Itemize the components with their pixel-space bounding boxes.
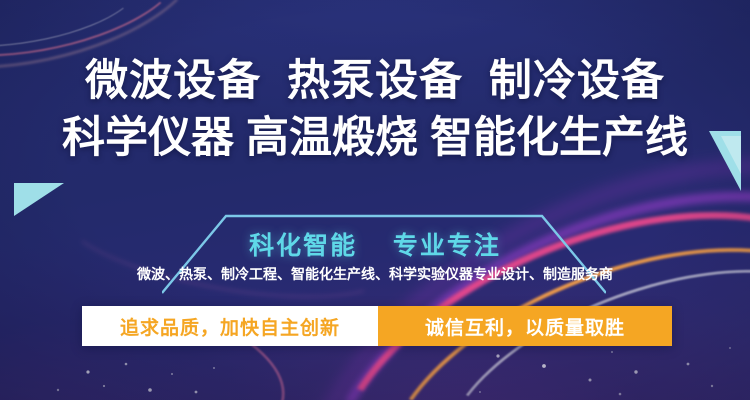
pill-left-slogan[interactable]: 追求品质，加快自主创新	[82, 306, 378, 346]
pill-right-slogan[interactable]: 诚信互利，以质量取胜	[378, 306, 672, 346]
headline-line-1: 微波设备 热泵设备 制冷设备	[0, 60, 750, 103]
promotional-banner: 微波设备 热泵设备 制冷设备 科学仪器 高温煅烧 智能化生产线 科化智能 专业专…	[0, 0, 750, 400]
slogan-pill-bar: 追求品质，加快自主创新 诚信互利，以质量取胜	[82, 306, 672, 346]
triangle-arrow-right-icon	[14, 183, 64, 216]
slogan-subtitle: 微波、热泵、制冷工程、智能化生产线、科学实验仪器专业设计、制造服务商	[0, 264, 750, 284]
headline-block: 微波设备 热泵设备 制冷设备 科学仪器 高温煅烧 智能化生产线	[0, 60, 750, 160]
slogan-cyan: 科化智能 专业专注	[0, 226, 750, 262]
headline-line-2: 科学仪器 高温煅烧 智能化生产线	[0, 117, 750, 160]
